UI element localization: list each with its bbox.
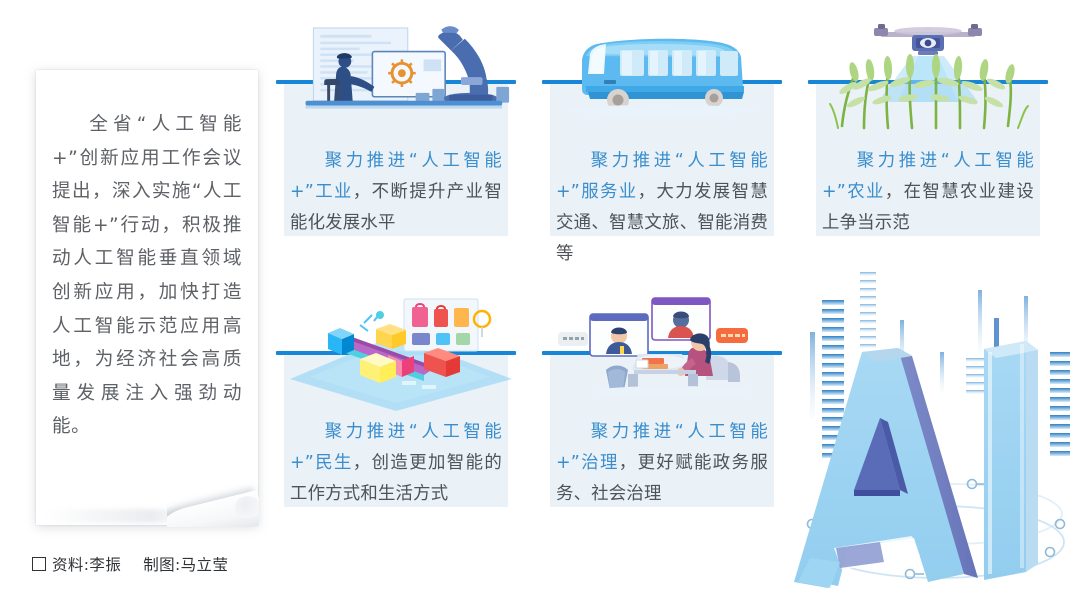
credit-source: 资料:李振 xyxy=(52,553,121,575)
card-caption-agriculture: 聚力推进“人工智能+”农业，在智慧农业建设上争当示范 xyxy=(816,146,1040,239)
note-bottom-shadow xyxy=(46,509,196,523)
infographic-canvas: 全省“人工智能+”创新应用工作会议提出，深入实施“人工智能+”行动，积极推动人工… xyxy=(0,0,1080,603)
card-service[interactable]: 聚力推进“人工智能+”服务业，大力发展智慧交通、智慧文旅、智能消费等 xyxy=(542,80,782,255)
card-accent-line-livelihood xyxy=(276,351,516,355)
note-text: 全省“人工智能+”创新应用工作会议提出，深入实施“人工智能+”行动，积极推动人工… xyxy=(52,108,242,444)
intro-paper-note: 全省“人工智能+”创新应用工作会议提出，深入实施“人工智能+”行动，积极推动人工… xyxy=(36,70,258,525)
card-accent-line-service xyxy=(542,80,782,84)
bullet-square-icon xyxy=(32,557,46,571)
chat-bubbles xyxy=(558,328,748,346)
ai-logo-artwork xyxy=(788,252,1080,603)
card-caption-livelihood: 聚力推进“人工智能+”民生，创造更加智能的工作方式和生活方式 xyxy=(284,417,508,510)
card-caption-industry: 聚力推进“人工智能+”工业，不断提升产业智能化发展水平 xyxy=(284,146,508,239)
drone xyxy=(874,24,982,55)
card-caption-governance: 聚力推进“人工智能+”治理，更好赋能政务服务、社会治理 xyxy=(550,417,774,510)
credit-designer: 制图:马立莹 xyxy=(143,553,228,575)
card-governance[interactable]: 聚力推进“人工智能+”治理，更好赋能政务服务、社会治理 xyxy=(542,351,782,526)
note-inner: 全省“人工智能+”创新应用工作会议提出，深入实施“人工智能+”行动，积极推动人工… xyxy=(36,70,258,525)
card-accent-line-industry xyxy=(276,80,516,84)
card-caption-service: 聚力推进“人工智能+”服务业，大力发展智慧交通、智慧文旅、智能消费等 xyxy=(550,146,774,270)
data-bar-cluster-right xyxy=(1050,352,1070,456)
card-industry[interactable]: 聚力推进“人工智能+”工业，不断提升产业智能化发展水平 xyxy=(276,80,516,255)
card-livelihood[interactable]: 聚力推进“人工智能+”民生，创造更加智能的工作方式和生活方式 xyxy=(276,351,516,526)
card-accent-line-agriculture xyxy=(808,80,1048,84)
card-accent-line-governance xyxy=(542,351,782,355)
video-window-top xyxy=(652,298,710,340)
ai-letter-a xyxy=(794,348,978,588)
card-agriculture[interactable]: 聚力推进“人工智能+”农业，在智慧农业建设上争当示范 xyxy=(808,80,1048,255)
ai-letter-i xyxy=(984,341,1038,580)
video-window-left xyxy=(590,314,648,356)
credit-line: 资料:李振 制图:马立莹 xyxy=(32,553,228,575)
